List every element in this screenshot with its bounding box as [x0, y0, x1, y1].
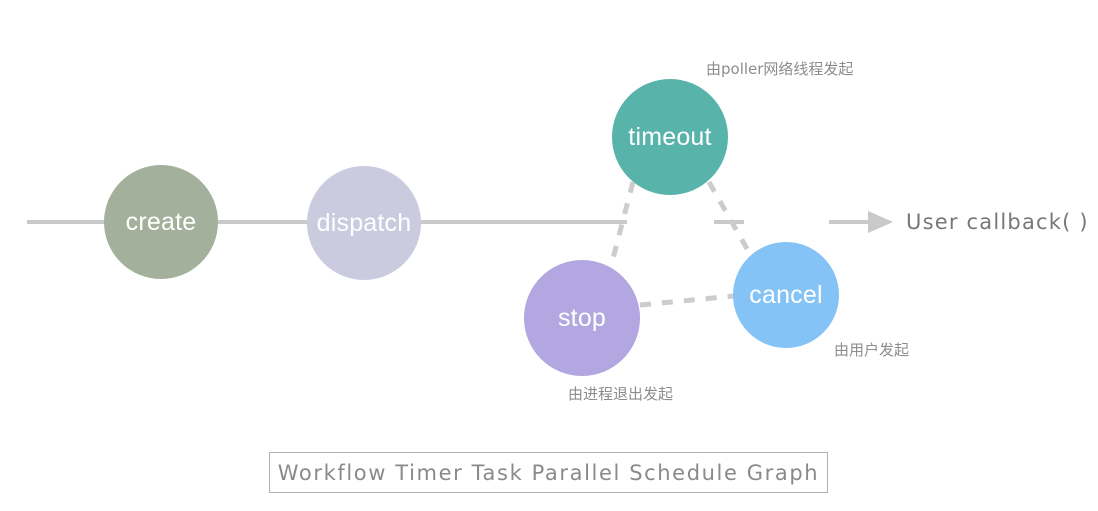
- user-callback-label: User callback( ): [906, 210, 1089, 234]
- dashed-edge-timeout-cancel: [709, 182, 750, 254]
- node-create-label: create: [126, 210, 197, 235]
- node-cancel-label: cancel: [749, 283, 822, 308]
- node-stop[interactable]: stop: [524, 260, 640, 376]
- node-timeout[interactable]: timeout: [612, 79, 728, 195]
- diagram-canvas: create dispatch timeout stop cancel 由pol…: [0, 0, 1098, 511]
- node-dispatch[interactable]: dispatch: [307, 166, 421, 280]
- node-stop-label: stop: [558, 306, 606, 331]
- diagram-title: Workflow Timer Task Parallel Schedule Gr…: [278, 461, 819, 485]
- node-dispatch-label: dispatch: [317, 211, 412, 236]
- diagram-title-box: Workflow Timer Task Parallel Schedule Gr…: [269, 452, 828, 493]
- annotation-cancel: 由用户发起: [834, 341, 909, 359]
- annotation-stop: 由进程退出发起: [568, 385, 673, 403]
- node-cancel[interactable]: cancel: [733, 242, 839, 348]
- node-create[interactable]: create: [104, 165, 218, 279]
- annotation-timeout: 由poller网络线程发起: [706, 60, 853, 78]
- dashed-edge-stop-cancel: [640, 296, 734, 305]
- node-timeout-label: timeout: [628, 125, 711, 150]
- flow-arrowhead-icon: [868, 211, 893, 233]
